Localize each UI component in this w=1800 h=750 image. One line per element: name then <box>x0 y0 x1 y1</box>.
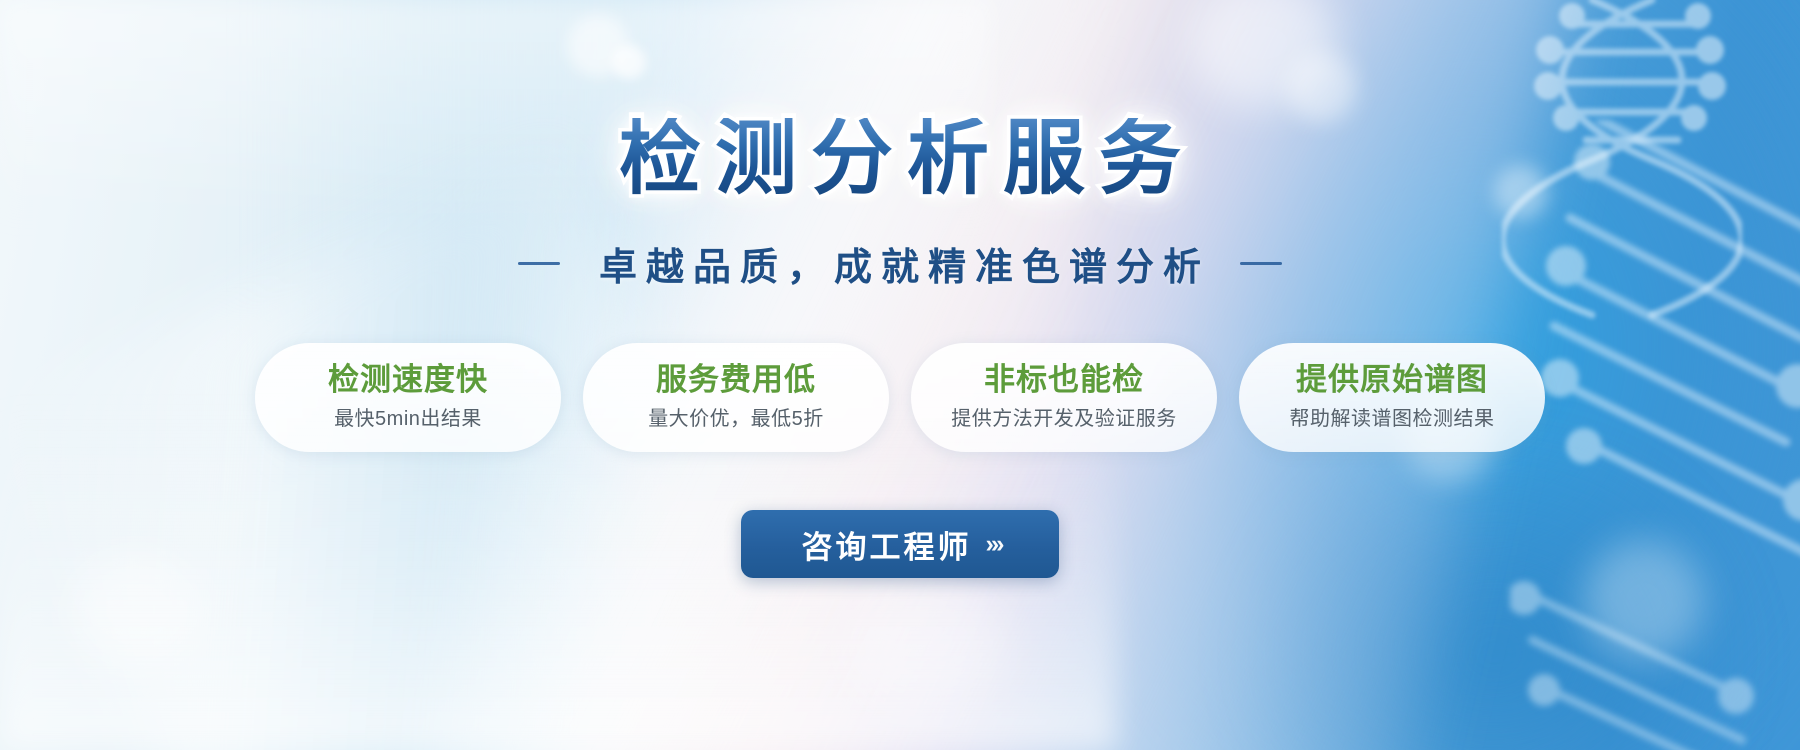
promo-banner: 检测分析服务 检测分析服务 卓越品质，成就精准色谱分析 检测速度快 最快5min… <box>0 0 1800 750</box>
banner-subtitle-text: 卓越品质，成就精准色谱分析 <box>590 236 1210 291</box>
chevron-right-triple-icon: ››› <box>986 532 1002 557</box>
consult-engineer-label: 咨询工程师 <box>799 522 972 567</box>
feature-pill-nonstandard[interactable]: 非标也能检 提供方法开发及验证服务 <box>911 343 1217 452</box>
feature-pill-title: 服务费用低 <box>656 361 816 398</box>
feature-pill-title: 提供原始谱图 <box>1296 361 1488 398</box>
feature-pill-title: 检测速度快 <box>328 361 488 398</box>
feature-pill-rawspectra[interactable]: 提供原始谱图 帮助解读谱图检测结果 <box>1239 343 1545 452</box>
feature-pill-subtitle: 最快5min出结果 <box>334 407 482 432</box>
feature-pill-subtitle: 量大价优，最低5折 <box>648 407 824 432</box>
banner-title: 检测分析服务 检测分析服务 <box>605 118 1195 200</box>
em-dash-left-icon <box>518 262 560 265</box>
em-dash-right-icon <box>1240 262 1282 265</box>
feature-pill-list: 检测速度快 最快5min出结果 服务费用低 量大价优，最低5折 非标也能检 提供… <box>255 343 1545 452</box>
banner-content: 检测分析服务 检测分析服务 卓越品质，成就精准色谱分析 检测速度快 最快5min… <box>0 0 1800 750</box>
banner-title-text: 检测分析服务 <box>605 118 1195 200</box>
feature-pill-title: 非标也能检 <box>984 361 1144 398</box>
feature-pill-subtitle: 帮助解读谱图检测结果 <box>1290 407 1495 432</box>
feature-pill-subtitle: 提供方法开发及验证服务 <box>951 407 1177 432</box>
feature-pill-speed[interactable]: 检测速度快 最快5min出结果 <box>255 343 561 452</box>
feature-pill-price[interactable]: 服务费用低 量大价优，最低5折 <box>583 343 889 452</box>
banner-subtitle-row: 卓越品质，成就精准色谱分析 <box>518 236 1282 291</box>
consult-engineer-button[interactable]: 咨询工程师 ››› <box>741 510 1060 578</box>
